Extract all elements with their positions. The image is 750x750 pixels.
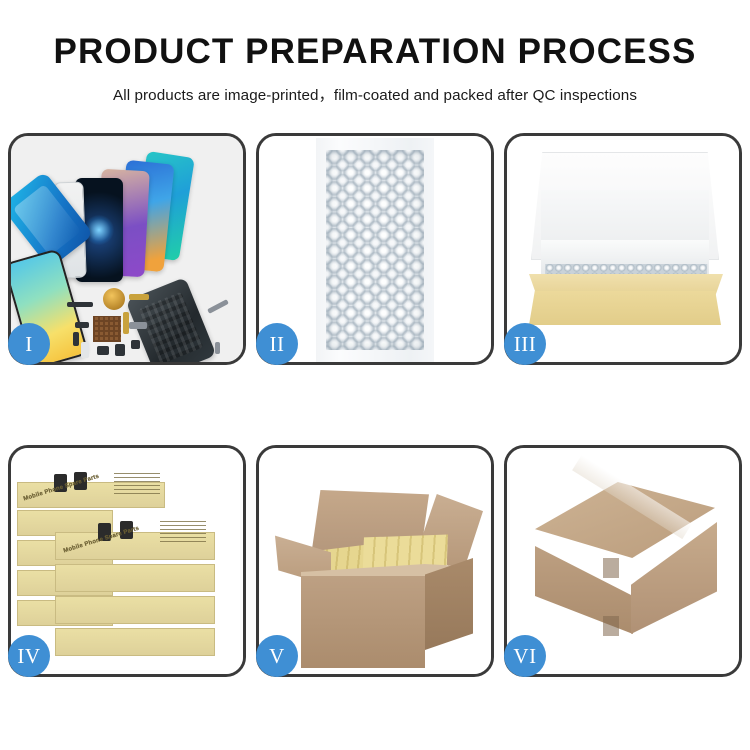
screw-part-icon	[131, 340, 140, 349]
stacked-box	[55, 628, 215, 656]
tweezers-icon	[207, 299, 229, 314]
step-5-image	[259, 448, 491, 674]
process-step-grid: I II III	[0, 133, 750, 708]
phone-parts-illustration	[11, 136, 243, 362]
step-badge-6: VI	[504, 635, 546, 677]
process-step-5: V	[256, 445, 494, 677]
page-subtitle: All products are image-printed，film-coat…	[0, 83, 750, 105]
step-6-image	[507, 448, 739, 674]
process-step-1: I	[8, 133, 246, 365]
screwdriver-icon	[215, 342, 220, 354]
step-4-image: Mobile Phone Spare Parts Mobile Phone Sp…	[11, 448, 243, 674]
bubble-wrap-icon	[326, 150, 424, 350]
stacked-box	[55, 564, 215, 592]
step-1-image	[11, 136, 243, 362]
spec-lines	[114, 473, 160, 495]
step-badge-3: III	[504, 323, 546, 365]
sim-tray-icon	[81, 342, 89, 358]
button-part-icon	[115, 344, 125, 356]
step-3-image	[507, 136, 739, 362]
process-step-6: VI	[504, 445, 742, 677]
chip-part-icon	[93, 316, 121, 342]
infographic-page: PRODUCT PREPARATION PROCESS All products…	[0, 0, 750, 750]
coil-part-icon	[103, 288, 125, 310]
speaker-part-icon	[67, 302, 93, 307]
phone-chassis-icon	[126, 277, 217, 362]
process-step-4: Mobile Phone Spare Parts Mobile Phone Sp…	[8, 445, 246, 677]
flex-cable-icon	[129, 294, 149, 300]
step-badge-4: IV	[8, 635, 50, 677]
step-2-image	[259, 136, 491, 362]
camera-part-icon	[97, 346, 109, 355]
stacked-box	[55, 596, 215, 624]
carton-handle-icon	[603, 558, 619, 578]
page-title: PRODUCT PREPARATION PROCESS	[0, 34, 750, 71]
spec-lines	[160, 521, 206, 543]
step-badge-1: I	[8, 323, 50, 365]
carton-front-icon	[301, 576, 425, 668]
step-badge-2: II	[256, 323, 298, 365]
connector-part-icon	[73, 332, 79, 346]
connector-part-icon	[75, 322, 89, 328]
box-stack-illustration: Mobile Phone Spare Parts Mobile Phone Sp…	[11, 448, 243, 674]
stacked-box-top: Mobile Phone Spare Parts	[17, 482, 165, 508]
box-front-icon	[529, 291, 721, 325]
stacked-box-front: Mobile Phone Spare Parts	[55, 532, 215, 560]
bracket-part-icon	[129, 322, 147, 329]
step-badge-5: V	[256, 635, 298, 677]
header: PRODUCT PREPARATION PROCESS All products…	[0, 0, 750, 105]
process-step-2: II	[256, 133, 494, 365]
process-step-3: III	[504, 133, 742, 365]
carton-handle-icon	[603, 616, 619, 636]
